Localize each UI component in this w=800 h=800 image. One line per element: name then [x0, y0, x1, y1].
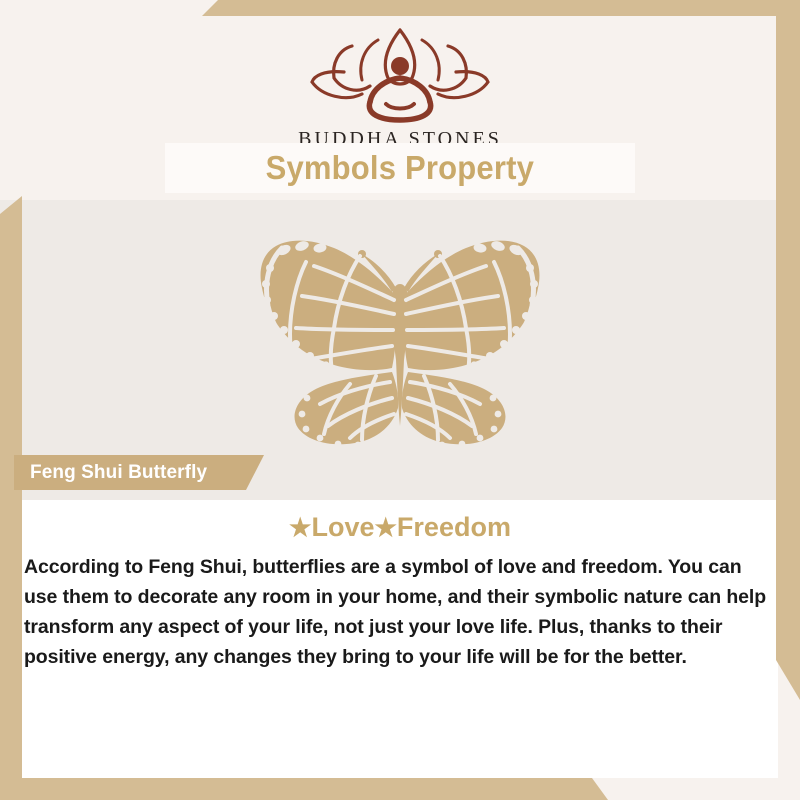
- star-icon-middle: ★: [375, 514, 397, 542]
- star-icon-left: ★: [289, 514, 311, 542]
- keywords-headline: ★Love★Freedom: [0, 512, 800, 543]
- page-title: Symbols Property: [266, 149, 534, 187]
- description-paragraph: According to Feng Shui, butterflies are …: [24, 552, 776, 672]
- title-band: Symbols Property: [165, 143, 635, 193]
- hero-illustration: [0, 226, 800, 456]
- infographic-page: BUDDHA STONES Symbols Property: [0, 0, 800, 800]
- section-banner-label: Feng Shui Butterfly: [30, 462, 207, 484]
- brand-logo-block: BUDDHA STONES: [0, 24, 800, 151]
- keyword-love: Love: [311, 512, 374, 542]
- section-banner: Feng Shui Butterfly: [14, 455, 264, 490]
- keyword-freedom: Freedom: [397, 512, 511, 542]
- butterfly-icon: [210, 226, 590, 451]
- bottom-frame-accent: [0, 778, 800, 800]
- lotus-meditation-icon: [300, 24, 500, 124]
